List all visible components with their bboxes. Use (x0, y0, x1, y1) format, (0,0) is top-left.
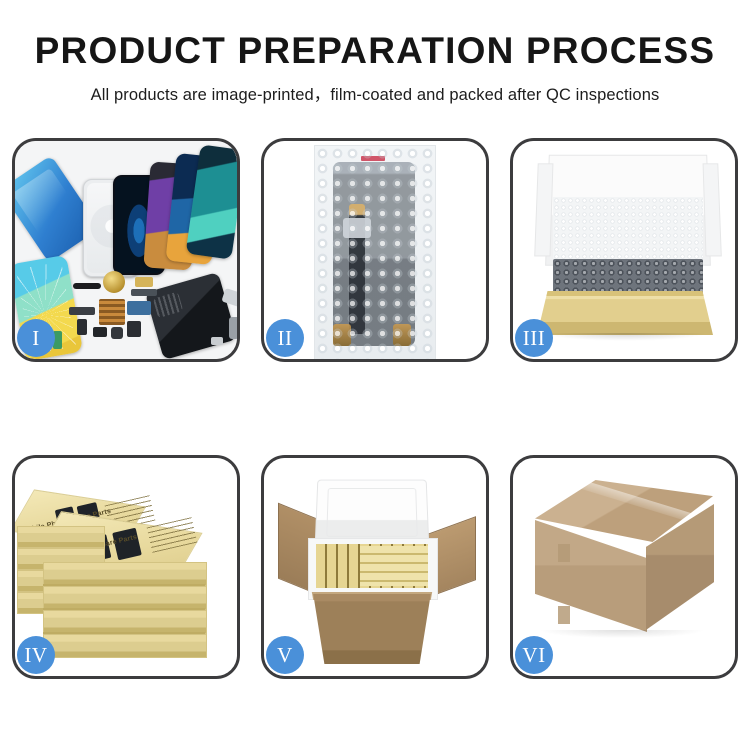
component-chip (77, 319, 87, 335)
gold-box-tray (537, 291, 713, 335)
component-chip (127, 321, 141, 337)
white-foam-sheet (553, 197, 703, 267)
component-chip (131, 289, 157, 296)
box-shadow (543, 333, 707, 341)
process-step-panel-2[interactable]: II (261, 138, 489, 362)
page-subtitle: All products are image-printed，film-coat… (0, 72, 750, 105)
component-chip (69, 307, 95, 315)
step-badge-2: II (266, 319, 304, 357)
screw-component (211, 337, 223, 345)
speaker-component (103, 271, 125, 293)
box-edge-line (43, 584, 205, 586)
component-chip (73, 283, 101, 289)
component-chip (111, 327, 123, 339)
carton-shadow (541, 630, 703, 638)
step-badge-6: VI (515, 636, 553, 674)
tool-component (229, 317, 237, 339)
page-title: PRODUCT PREPARATION PROCESS (0, 0, 750, 72)
process-step-panel-4[interactable]: Mobile Phone Spare Parts Mobile Phone Sp… (12, 455, 240, 679)
process-step-panel-5[interactable]: V (261, 455, 489, 679)
box-edge-line (43, 632, 205, 634)
step-badge-5: V (266, 636, 304, 674)
carton-seam-tab (558, 606, 570, 624)
retail-box-side (17, 526, 105, 548)
gold-boxes-row (360, 546, 428, 586)
bubble-wrap-bag (314, 145, 436, 359)
component-chip (135, 277, 153, 287)
carton-seam-tab (558, 544, 570, 562)
retail-box-side (43, 610, 207, 634)
kraft-carton-body (302, 594, 442, 664)
flex-cable-component (127, 301, 151, 315)
process-step-grid: I II III (12, 138, 738, 679)
connector-grid-component (99, 299, 125, 325)
retail-box-side (43, 562, 207, 586)
process-step-panel-3[interactable]: III (510, 138, 738, 362)
process-step-panel-1[interactable]: I (12, 138, 240, 362)
step-badge-1: I (17, 319, 55, 357)
box-edge-line (43, 608, 205, 610)
step-badge-4: IV (17, 636, 55, 674)
component-chip (93, 327, 107, 337)
retail-box-side (43, 634, 207, 658)
process-step-panel-6[interactable]: VI (510, 455, 738, 679)
step-badge-3: III (515, 319, 553, 357)
retail-box-side (43, 586, 207, 610)
dark-bubble-wrap-layer (553, 259, 703, 295)
bubble-wrap-overlay (315, 146, 435, 359)
page-header: PRODUCT PREPARATION PROCESS All products… (0, 0, 750, 105)
